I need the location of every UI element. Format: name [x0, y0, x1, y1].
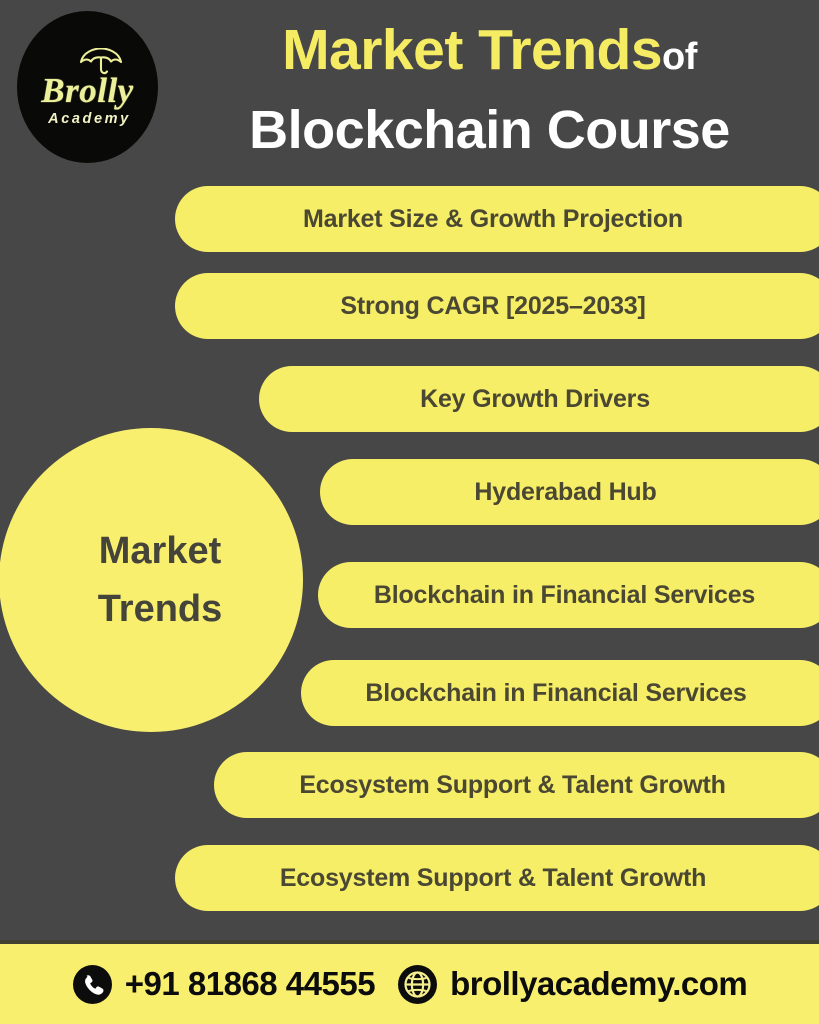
- title-line-1: Market Trendsof: [160, 14, 819, 101]
- trend-pill-label: Key Growth Drivers: [420, 385, 650, 414]
- trend-pill-label: Ecosystem Support & Talent Growth: [299, 771, 725, 800]
- infographic-poster: Brolly Academy Market Trendsof Blockchai…: [0, 0, 819, 1024]
- trend-pill[interactable]: Market Size & Growth Projection: [175, 186, 819, 252]
- hub-line-2: Trends: [98, 580, 223, 638]
- poster-header: Brolly Academy Market Trendsof Blockchai…: [0, 0, 819, 178]
- logo-wordmark: Brolly: [41, 74, 133, 108]
- trend-pill[interactable]: Ecosystem Support & Talent Growth: [214, 752, 819, 818]
- trend-pill[interactable]: Blockchain in Financial Services: [301, 660, 819, 726]
- trend-pill[interactable]: Ecosystem Support & Talent Growth: [175, 845, 819, 911]
- phone-icon: [72, 964, 113, 1005]
- trend-pill[interactable]: Blockchain in Financial Services: [318, 562, 819, 628]
- brolly-academy-logo: Brolly Academy: [17, 11, 158, 163]
- logo-subtext: Academy: [48, 111, 131, 127]
- page-title: Market Trendsof Blockchain Course: [160, 14, 819, 177]
- trend-pill-label: Ecosystem Support & Talent Growth: [280, 864, 706, 893]
- title-market-trends: Market Trends: [282, 18, 662, 82]
- trend-pill-label: Hyderabad Hub: [474, 478, 656, 507]
- market-trends-hub: Market Trends: [0, 428, 303, 732]
- trend-pill-label: Blockchain in Financial Services: [365, 679, 746, 708]
- trend-pill[interactable]: Hyderabad Hub: [320, 459, 819, 525]
- website-url: brollyacademy.com: [450, 965, 747, 1003]
- hub-line-1: Market: [99, 522, 222, 580]
- phone-number: +91 81868 44555: [125, 965, 375, 1003]
- title-blockchain-course: Blockchain Course: [249, 100, 730, 160]
- poster-footer: +91 81868 44555 brollyacademy.com: [0, 944, 819, 1024]
- trend-pill-label: Blockchain in Financial Services: [374, 581, 755, 610]
- trend-pill[interactable]: Key Growth Drivers: [259, 366, 819, 432]
- title-line-2: Blockchain Course: [160, 97, 819, 177]
- trend-pill-label: Market Size & Growth Projection: [303, 205, 683, 234]
- title-of: of: [662, 36, 697, 78]
- contact-phone[interactable]: +91 81868 44555: [72, 964, 375, 1005]
- trend-pill-label: Strong CAGR [2025–2033]: [340, 292, 645, 321]
- trend-pill[interactable]: Strong CAGR [2025–2033]: [175, 273, 819, 339]
- globe-icon: [397, 964, 438, 1005]
- contact-website[interactable]: brollyacademy.com: [397, 964, 747, 1005]
